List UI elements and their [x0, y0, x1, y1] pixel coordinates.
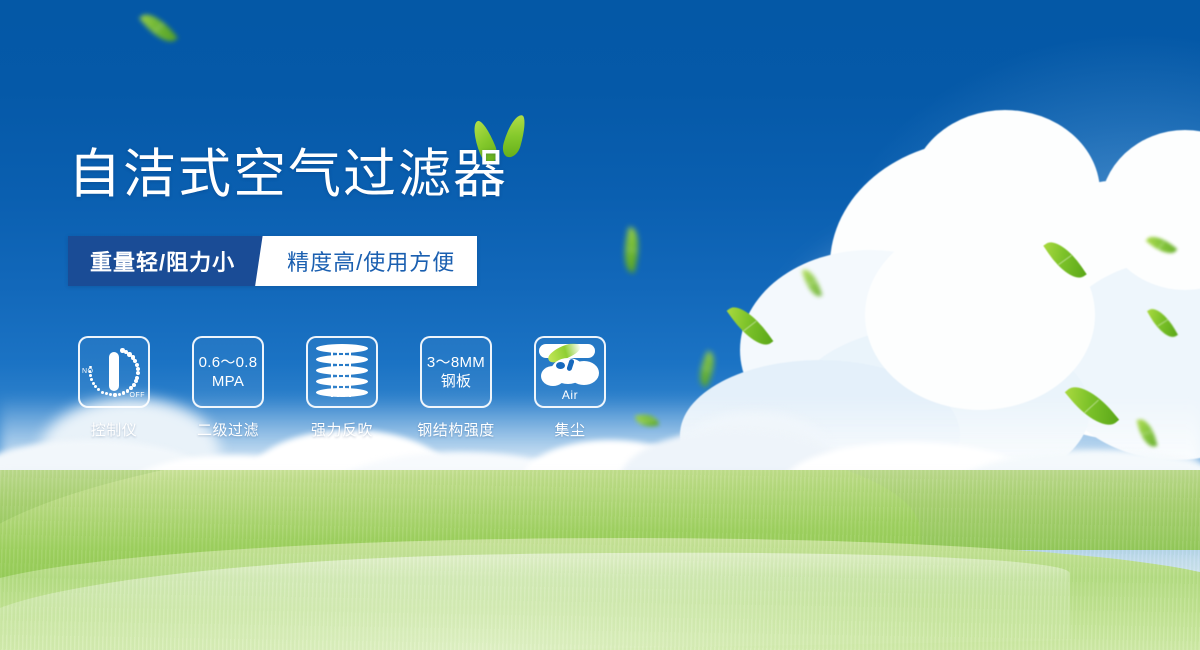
feature-icon-box: 3～8MM 钢板 — [420, 336, 492, 408]
gauge-label-no: NO — [82, 368, 94, 375]
feature-list: NO OFF 控制仪 0.6～0.8 MPA 二级过滤 — [78, 336, 606, 440]
feature-item-blowback[interactable]: 强力反吹 — [306, 336, 378, 440]
gauge-label-off: OFF — [130, 392, 146, 399]
gauge-icon: NO OFF — [83, 343, 145, 401]
air-label: Air — [539, 388, 601, 402]
feature-caption: 强力反吹 — [311, 419, 373, 440]
subtitle-secondary: 精度高/使用方便 — [277, 236, 477, 286]
banner-stage: 自洁式空气过滤器 重量轻/阻力小 精度高/使用方便 NO OFF 控制仪 0.6… — [0, 0, 1200, 650]
feature-caption: 钢结构强度 — [417, 419, 495, 440]
subtitle-divider — [255, 236, 277, 286]
feature-icon-box: 0.6～0.8 MPA — [192, 336, 264, 408]
pressure-icon: 0.6～0.8 MPA — [199, 353, 258, 391]
feature-item-controller[interactable]: NO OFF 控制仪 — [78, 336, 150, 440]
feature-icon-box — [306, 336, 378, 408]
gauge-needle — [109, 352, 119, 391]
feature-caption: 集尘 — [554, 419, 585, 440]
feature-item-steel[interactable]: 3～8MM 钢板 钢结构强度 — [420, 336, 492, 440]
subtitle-band: 重量轻/阻力小 精度高/使用方便 — [68, 236, 477, 286]
subtitle-primary: 重量轻/阻力小 — [68, 236, 255, 286]
steel-plate-icon: 3～8MM 钢板 — [427, 353, 485, 391]
blowback-icon — [316, 344, 368, 400]
feature-icon-box: NO OFF — [78, 336, 150, 408]
feature-caption: 控制仪 — [91, 419, 138, 440]
feature-icon-box: Air — [534, 336, 606, 408]
grass-field — [0, 470, 1200, 650]
feature-item-dust[interactable]: Air 集尘 — [534, 336, 606, 440]
feature-item-pressure[interactable]: 0.6～0.8 MPA 二级过滤 — [192, 336, 264, 440]
feature-caption: 二级过滤 — [197, 419, 259, 440]
air-cloud-icon: Air — [539, 344, 601, 400]
page-title: 自洁式空气过滤器 — [68, 144, 508, 206]
